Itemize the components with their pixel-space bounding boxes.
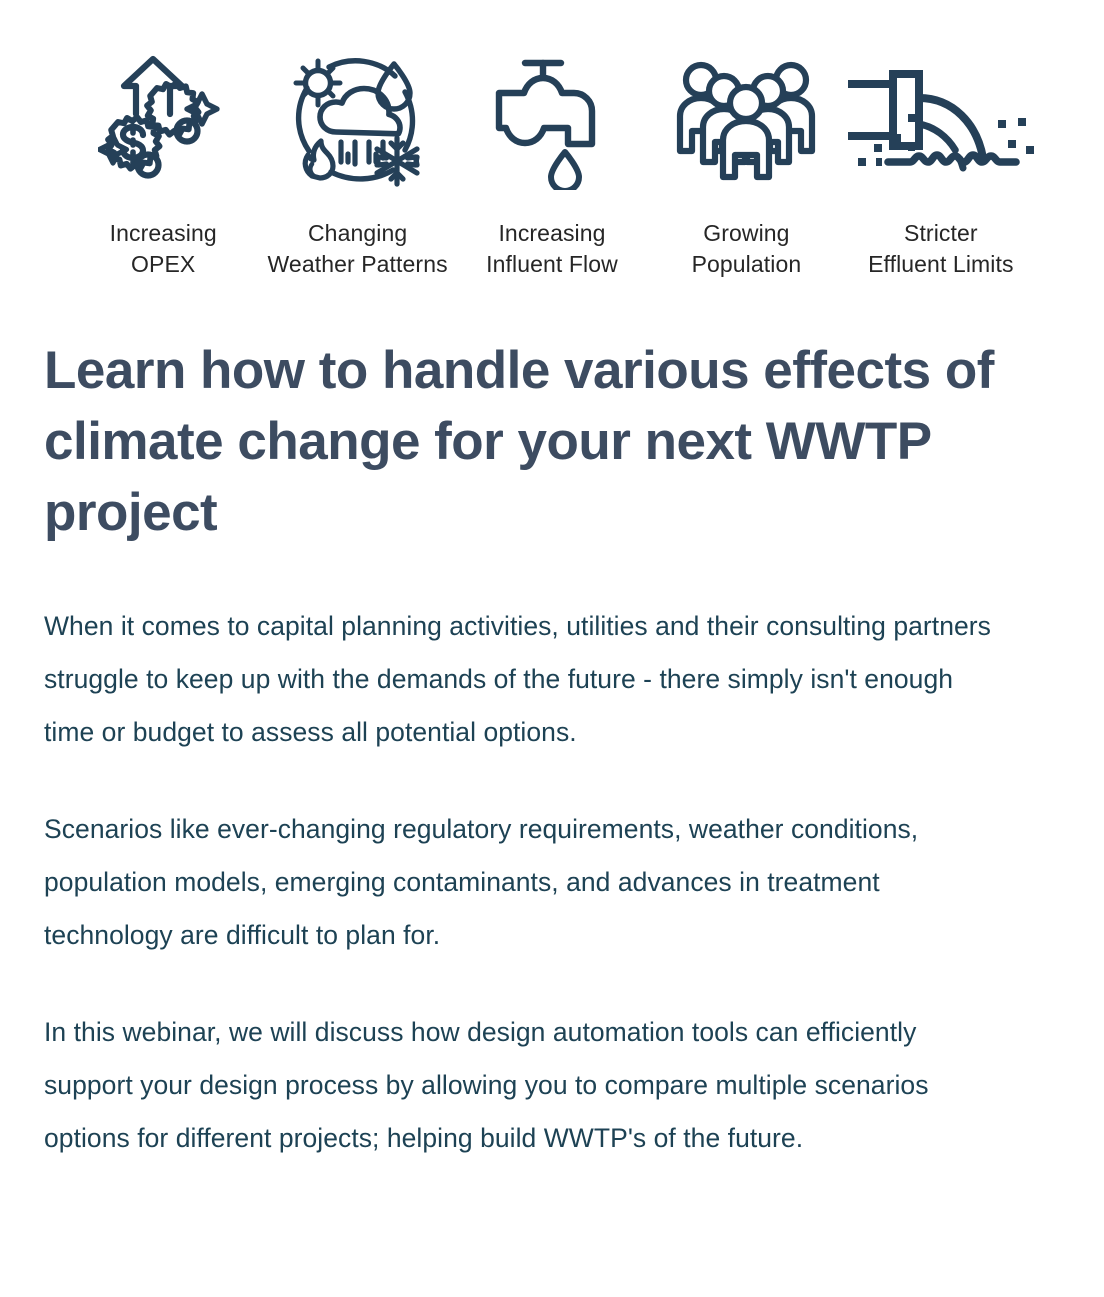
benefits-icon-strip: Increasing OPEX — [0, 0, 1104, 279]
cost-increase-icon — [98, 44, 228, 196]
body-paragraph: In this webinar, we will discuss how des… — [44, 1006, 994, 1165]
weather-patterns-icon — [283, 44, 433, 196]
icon-cell-growing-population: Growing Population — [649, 44, 843, 279]
icon-caption: Growing Population — [692, 218, 802, 279]
icon-cell-stricter-effluent-limits: Stricter Effluent Limits — [844, 44, 1038, 279]
body-paragraph: Scenarios like ever-changing regulatory … — [44, 803, 994, 962]
outfall-pipe-icon — [846, 44, 1036, 196]
icon-caption: Changing Weather Patterns — [268, 218, 448, 279]
icon-cell-changing-weather: Changing Weather Patterns — [260, 44, 454, 279]
icon-caption: Increasing Influent Flow — [486, 218, 618, 279]
icon-cell-increasing-influent-flow: Increasing Influent Flow — [455, 44, 649, 279]
webinar-promo-page: Increasing OPEX — [0, 0, 1104, 1297]
icon-caption: Stricter Effluent Limits — [868, 218, 1014, 279]
body-paragraph: When it comes to capital planning activi… — [44, 600, 994, 759]
icon-cell-increasing-opex: Increasing OPEX — [66, 44, 260, 279]
people-group-icon — [676, 44, 816, 196]
faucet-drip-icon — [492, 44, 612, 196]
page-title: Learn how to handle various effects of c… — [0, 335, 1060, 548]
body-copy: When it comes to capital planning activi… — [0, 600, 1104, 1165]
icon-caption: Increasing OPEX — [110, 218, 217, 279]
